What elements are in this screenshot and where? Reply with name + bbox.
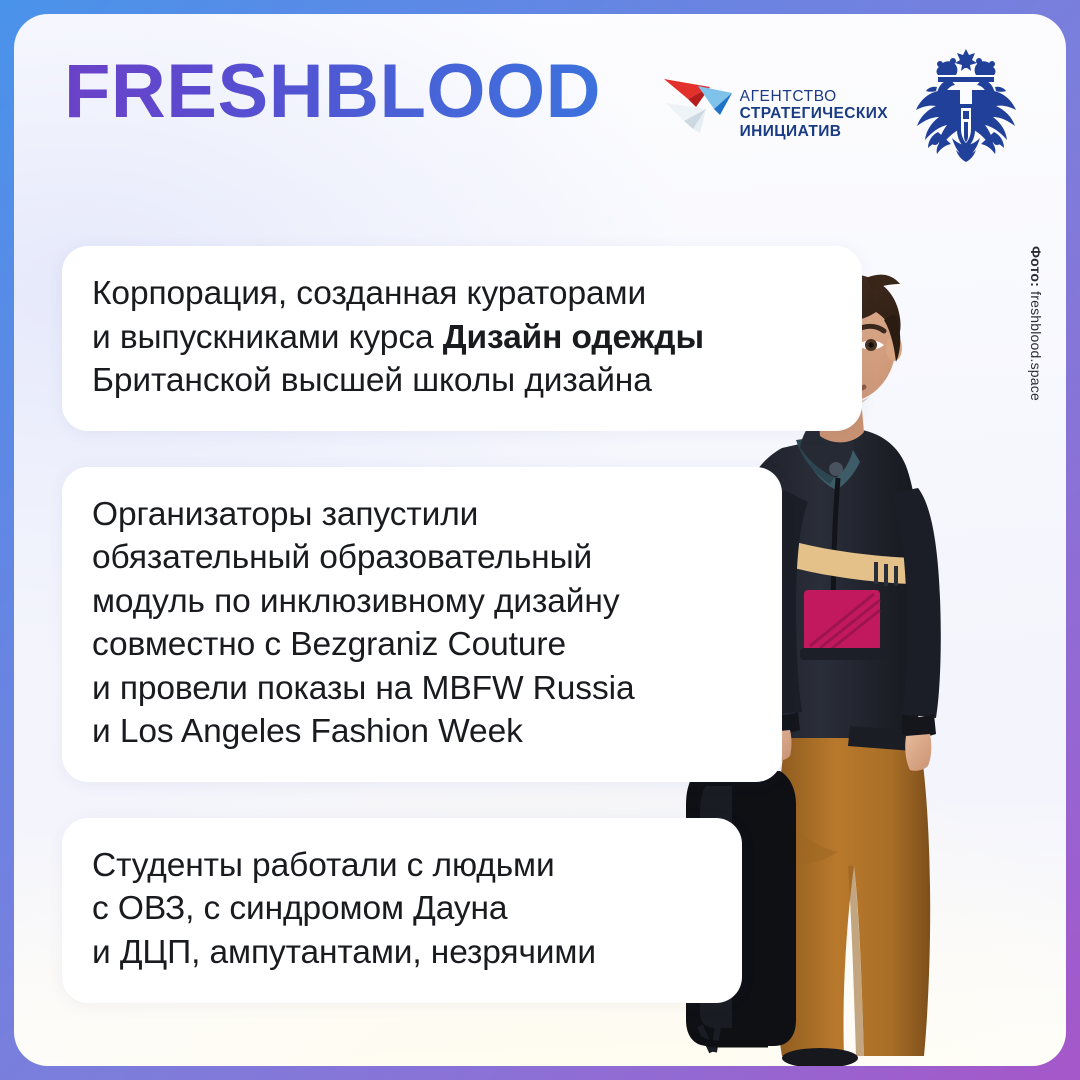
asi-paper-plane-icon <box>662 73 736 142</box>
card-line: и выпускниками курса Дизайн одежды <box>92 316 832 360</box>
asi-line-3: ИНИЦИАТИВ <box>740 123 888 140</box>
poster-header: FRESHBLOOD <box>14 14 1066 194</box>
card-line: и ДЦП, ампутантами, незрячими <box>92 931 712 975</box>
card-line: обязательный образовательный <box>92 536 752 580</box>
card-corporation: Корпорация, созданная кураторами и выпус… <box>62 246 862 431</box>
info-card-list: Корпорация, созданная кураторами и выпус… <box>62 246 862 1003</box>
card-students: Студенты работали с людьми с ОВЗ, с синд… <box>62 818 742 1003</box>
card-line: и провели показы на MBFW Russia <box>92 667 752 711</box>
logo-group: АГЕНТСТВО СТРАТЕГИЧЕСКИХ ИНИЦИАТИВ <box>662 46 1022 169</box>
card-line: Корпорация, созданная кураторами <box>92 272 832 316</box>
photo-credit: Фото: freshblood.space <box>1024 246 1048 446</box>
asi-line-2: СТРАТЕГИЧЕСКИХ <box>740 105 888 122</box>
poster-inner-page: FRESHBLOOD <box>14 14 1066 1066</box>
card-line: с ОВЗ, с синдромом Дауна <box>92 887 712 931</box>
asi-line-1: АГЕНТСТВО <box>740 88 888 105</box>
asi-logo-text: АГЕНТСТВО СТРАТЕГИЧЕСКИХ ИНИЦИАТИВ <box>740 88 888 142</box>
photo-credit-label: Фото: <box>1028 246 1044 287</box>
card-line: совместно с Bezgraniz Couture <box>92 623 752 667</box>
card-line: и Los Angeles Fashion Week <box>92 710 752 754</box>
card-line: Организаторы запустили <box>92 493 752 537</box>
card-line: Студенты работали с людьми <box>92 844 712 888</box>
card-education-module: Организаторы запустили обязательный обра… <box>62 467 782 782</box>
card-line: Британской высшей школы дизайна <box>92 359 832 403</box>
poster-frame: FRESHBLOOD <box>0 0 1080 1080</box>
photo-credit-source: freshblood.space <box>1028 291 1044 401</box>
brand-wordmark: FRESHBLOOD <box>64 54 601 130</box>
asi-logo: АГЕНТСТВО СТРАТЕГИЧЕСКИХ ИНИЦИАТИВ <box>662 73 888 142</box>
card-line: модуль по инклюзивному дизайну <box>92 580 752 624</box>
russian-double-headed-eagle-emblem-icon <box>910 46 1022 169</box>
